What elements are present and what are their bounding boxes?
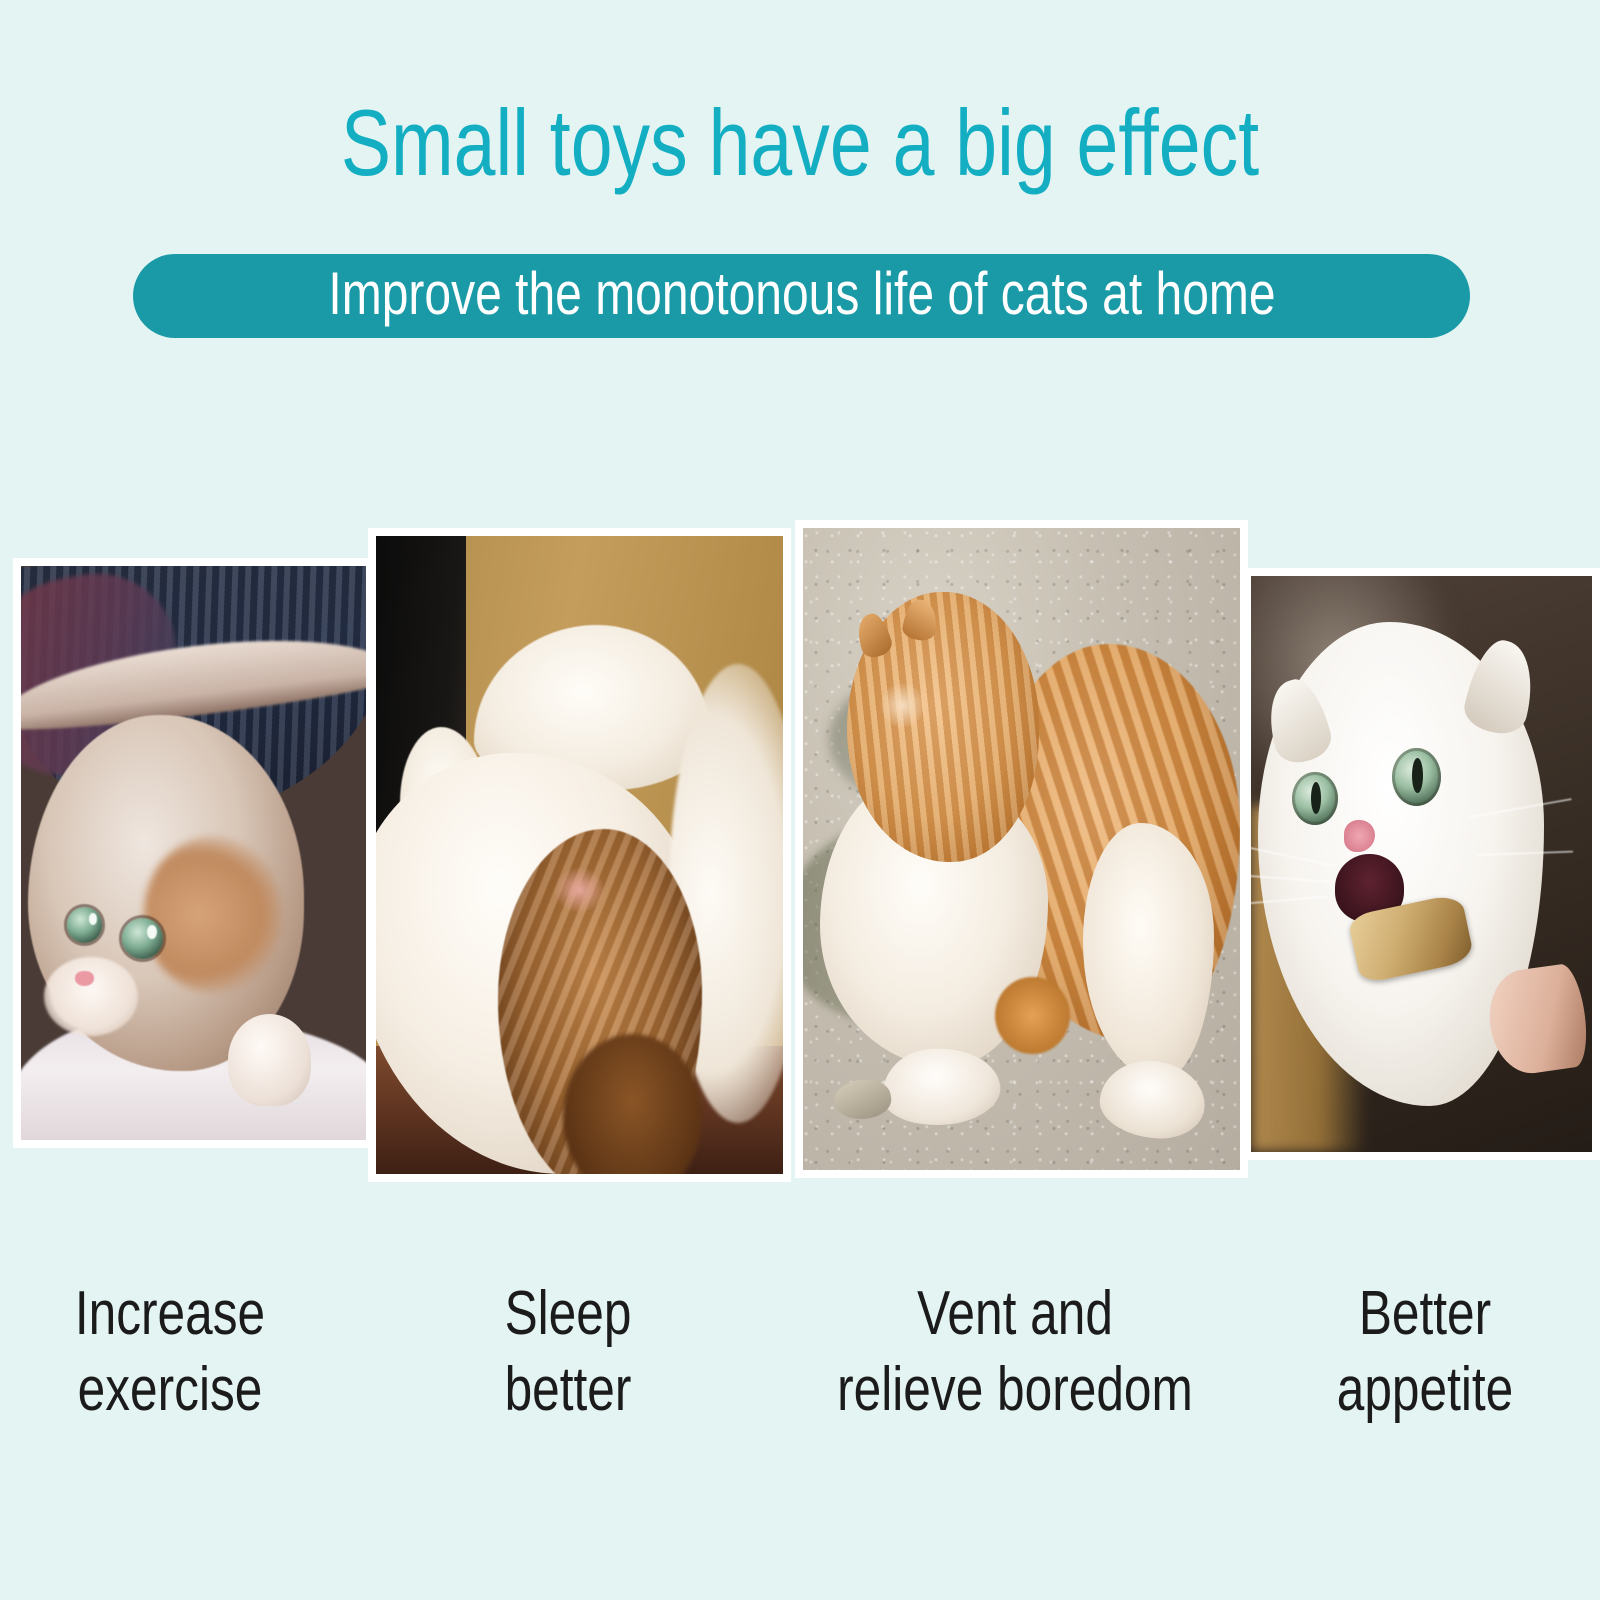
caption-line-1: Increase: [34, 1276, 306, 1352]
benefit-caption-4: Better appetite: [1250, 1276, 1600, 1427]
page-title: Small toys have a big effect: [160, 96, 1440, 190]
photo-cat-sleeping-belly-up: [376, 536, 783, 1174]
photo-cat-eating-treat: [1251, 576, 1592, 1152]
photo-kitten-grooming-on-concrete: [803, 528, 1240, 1170]
caption-line-1: Sleep: [400, 1276, 736, 1352]
caption-line-1: Vent and: [835, 1276, 1195, 1352]
photo-kitten-under-blanket: [21, 566, 366, 1140]
benefit-caption-2: Sleep better: [358, 1276, 778, 1427]
caption-line-2: better: [400, 1352, 736, 1428]
caption-line-2: appetite: [1285, 1352, 1565, 1428]
subtitle-text: Improve the monotonous life of cats at h…: [328, 264, 1275, 328]
benefit-caption-3: Vent and relieve boredom: [790, 1276, 1240, 1427]
caption-line-2: relieve boredom: [835, 1352, 1195, 1428]
caption-line-2: exercise: [34, 1352, 306, 1428]
benefit-photo-1: [13, 558, 374, 1148]
benefit-photo-3: [795, 520, 1248, 1178]
benefit-photo-4: [1243, 568, 1600, 1160]
benefit-photo-2: [368, 528, 791, 1182]
promo-banner: Small toys have a big effect Improve the…: [0, 0, 1600, 1600]
subtitle-pill: Improve the monotonous life of cats at h…: [133, 254, 1470, 338]
benefit-caption-1: Increase exercise: [0, 1276, 340, 1427]
caption-line-1: Better: [1285, 1276, 1565, 1352]
